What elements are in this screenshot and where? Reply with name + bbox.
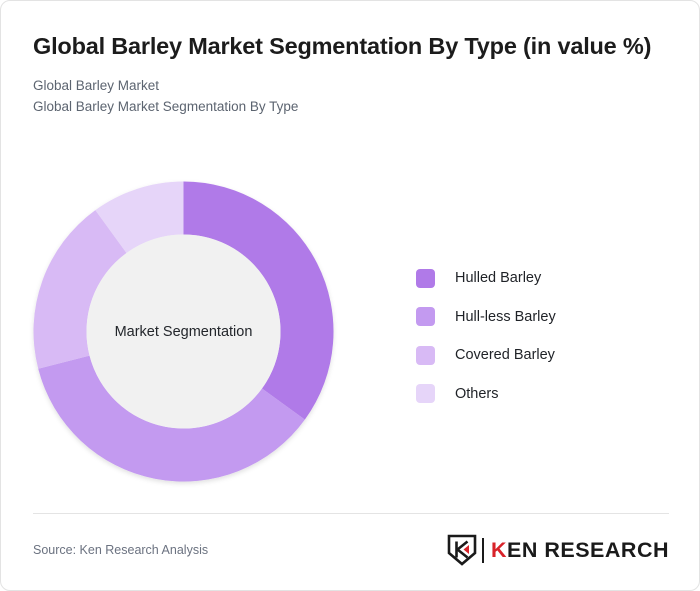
legend-swatch-icon <box>416 384 435 403</box>
legend-swatch-icon <box>416 269 435 288</box>
legend-item[interactable]: Others <box>416 375 656 414</box>
donut-hole <box>87 235 281 429</box>
page-title: Global Barley Market Segmentation By Typ… <box>33 31 663 62</box>
brand-logo: KEN RESEARCH <box>447 534 669 566</box>
subtitle-group: Global Barley Market Global Barley Marke… <box>33 76 663 117</box>
chart-header: Global Barley Market Segmentation By Typ… <box>33 31 663 117</box>
legend-swatch-icon <box>416 307 435 326</box>
legend-label: Covered Barley <box>455 347 555 363</box>
source-note: Source: Ken Research Analysis <box>33 543 208 557</box>
chart-card: Global Barley Market Segmentation By Typ… <box>0 0 700 591</box>
brand-name-initial: K <box>491 538 507 562</box>
legend-label: Others <box>455 386 499 402</box>
legend-item[interactable]: Hull-less Barley <box>416 298 656 337</box>
brand-separator <box>482 538 484 563</box>
chart-footer: Source: Ken Research Analysis KEN RESEAR… <box>33 529 669 571</box>
donut-chart: Market Segmentation <box>33 181 334 482</box>
legend-item[interactable]: Hulled Barley <box>416 259 656 298</box>
footer-divider <box>33 513 669 514</box>
ken-shield-icon <box>447 534 477 566</box>
legend-label: Hull-less Barley <box>455 309 556 325</box>
chart-legend: Hulled BarleyHull-less BarleyCovered Bar… <box>416 259 656 413</box>
legend-item[interactable]: Covered Barley <box>416 336 656 375</box>
brand-name-rest: EN RESEARCH <box>507 538 669 562</box>
chart-plot-area: Market Segmentation Hulled BarleyHull-le… <box>1 161 700 501</box>
subtitle-market: Global Barley Market <box>33 76 663 96</box>
legend-swatch-icon <box>416 346 435 365</box>
subtitle-segmentation: Global Barley Market Segmentation By Typ… <box>33 97 663 117</box>
brand-name: KEN RESEARCH <box>491 538 669 563</box>
legend-label: Hulled Barley <box>455 270 541 286</box>
donut-svg <box>33 181 334 482</box>
